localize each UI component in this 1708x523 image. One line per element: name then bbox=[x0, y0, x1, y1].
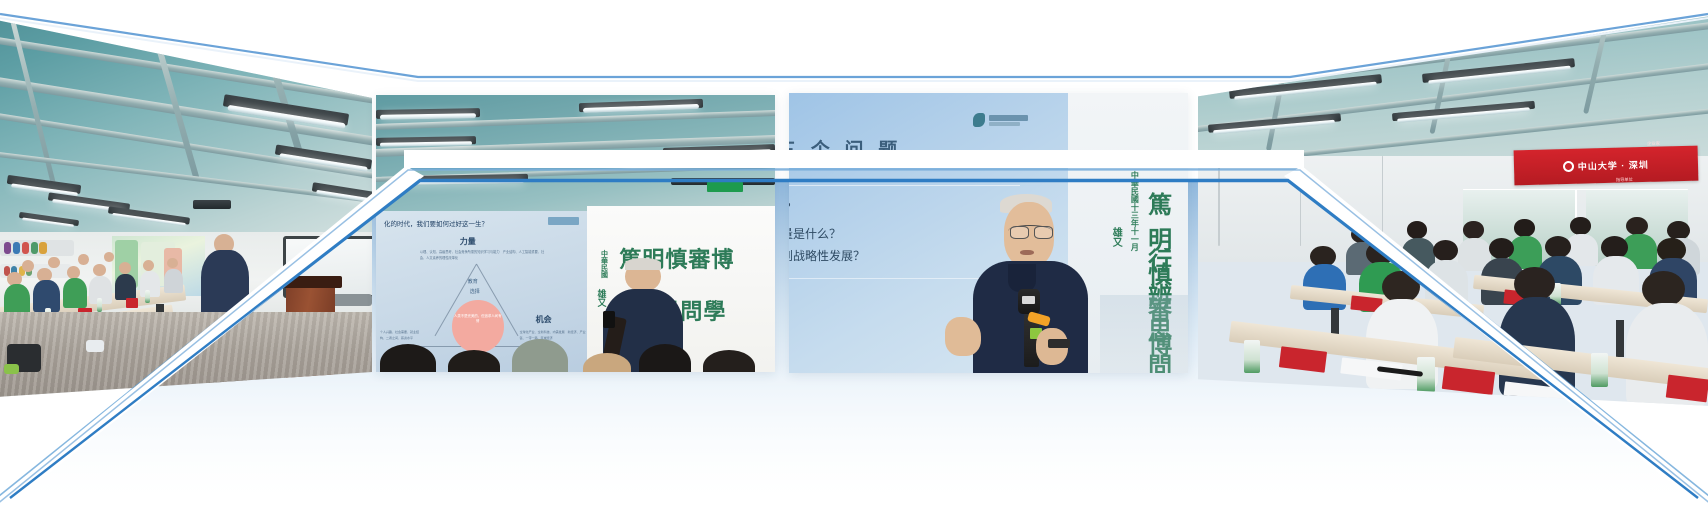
slide-label-choice: 选择 bbox=[470, 288, 480, 295]
photo-audience-banner: 中山大学 · 深圳 企业家 指导单位 bbox=[1198, 0, 1708, 410]
slide-subtext-power: 以理、认知、高级思考、社会竞争所需的知识学习与能力 产业结构、人工智能重要、社会… bbox=[420, 250, 548, 261]
university-banner: 中山大学 · 深圳 bbox=[1514, 145, 1698, 185]
slide-bullet-1: 到战略性发展？ bbox=[789, 247, 865, 264]
banner-text: 中山大学 · 深圳 bbox=[1578, 157, 1649, 172]
slide-bullet-0: 量是什么？ bbox=[789, 225, 841, 242]
wall-calligraphy-side: 中華民國十三年十一月 bbox=[1130, 171, 1139, 251]
table-name-card bbox=[1442, 366, 1495, 395]
slide-center-text: 人类不是完美的，但追求人间有情 bbox=[454, 314, 502, 324]
wall-calligraphy-side: 中華民國 bbox=[599, 250, 609, 278]
gallery-photo-right[interactable]: 中山大学 · 深圳 企业家 指导单位 bbox=[1198, 0, 1708, 410]
slide-subtext-left: 个人兴趣、社会需要、就业结构、二者之间、薪资水平 bbox=[380, 330, 420, 340]
wall-signature: 雄又 bbox=[595, 289, 608, 307]
slide-title: 三 个 问 题 bbox=[789, 135, 902, 162]
slide-label-education: 教育 bbox=[468, 278, 478, 285]
gallery-photo-left[interactable] bbox=[0, 0, 372, 400]
gallery-photo-center-left[interactable]: 化的时代，我们要如何过好这一生？ 力量 以理、认知、高级思考、社会竞争所需的知识… bbox=[376, 95, 775, 372]
photo-presenter-triangle-slide: 化的时代，我们要如何过好这一生？ 力量 以理、认知、高级思考、社会竞争所需的知识… bbox=[376, 95, 775, 372]
gallery-photo-center-right[interactable]: 三 个 问 题 ？ 量是什么？ 到战略性发展？ 中華民國十三年十一月 篤明慎審博… bbox=[789, 93, 1188, 373]
photo-classroom-podium bbox=[0, 0, 372, 400]
slide-headline: 化的时代，我们要如何过好这一生？ bbox=[384, 218, 576, 228]
wall-signature: 雄又 bbox=[1108, 227, 1123, 247]
banner-subtext-top: 企业家 bbox=[1647, 140, 1660, 146]
banner-subtext-bottom: 指导单位 bbox=[1616, 177, 1633, 183]
slide-subtext-opportunity: 全球化产业、全新科技、内需发展 新经济、产业链、一带一路、区域经济 bbox=[520, 330, 588, 340]
gallery-stage: 化的时代，我们要如何过好这一生？ 力量 以理、认知、高级思考、社会竞争所需的知识… bbox=[0, 0, 1708, 523]
slide-label-opportunity: 机会 bbox=[536, 314, 552, 325]
photo-speaker-closeup: 三 个 问 题 ？ 量是什么？ 到战略性发展？ 中華民國十三年十一月 篤明慎審博… bbox=[789, 93, 1188, 373]
slide-bullet-0-prefix: ？ bbox=[789, 199, 796, 215]
slide-label-power: 力量 bbox=[460, 236, 476, 247]
university-seal-icon bbox=[1563, 160, 1574, 171]
